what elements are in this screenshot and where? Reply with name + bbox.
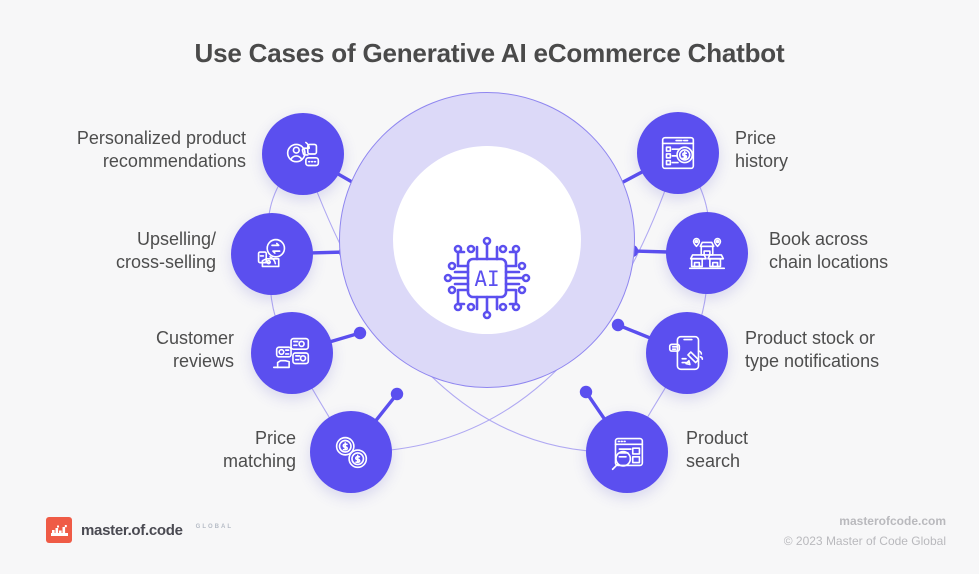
label-product-search: Product search — [686, 427, 886, 473]
node-product-search[interactable] — [586, 411, 668, 493]
node-product-stock-or-type-notifications[interactable] — [646, 312, 728, 394]
label-product-stock-or-type-notifications: Product stock or type notifications — [745, 327, 965, 373]
browser-magnifier-icon — [604, 429, 650, 475]
label-personalized-product-recommendations: Personalized product recommendations — [20, 127, 246, 173]
logo-subtext: GLOBAL — [196, 524, 233, 530]
node-price-history[interactable] — [637, 112, 719, 194]
infographic-canvas: Use Cases of Generative AI eCommerce Cha… — [0, 0, 979, 574]
logo-text: master.of.code — [81, 522, 183, 539]
website-url[interactable]: masterofcode.com — [839, 514, 946, 528]
browser-coin-icon — [655, 130, 701, 176]
brand-logo[interactable]: master.of.code GLOBAL — [46, 517, 233, 543]
upsell-person-arrows-icon — [249, 231, 295, 277]
label-price-history: Price history — [735, 127, 965, 173]
node-book-across-chain-locations[interactable] — [666, 212, 748, 294]
node-customer-reviews[interactable] — [251, 312, 333, 394]
label-book-across-chain-locations: Book across chain locations — [769, 228, 965, 274]
two-coins-icon — [328, 429, 374, 475]
label-price-matching: Price matching — [20, 427, 296, 473]
node-price-matching[interactable] — [310, 411, 392, 493]
logo-mark-icon — [46, 517, 72, 543]
page-title: Use Cases of Generative AI eCommerce Cha… — [0, 38, 979, 69]
phone-bell-notification-icon — [664, 330, 710, 376]
storefronts-pins-icon — [684, 230, 730, 276]
node-personalized-product-recommendations[interactable] — [262, 113, 344, 195]
ai-chip-icon: AI — [437, 228, 537, 328]
label-upselling-cross-selling: Upselling/ cross-selling — [20, 228, 216, 274]
copyright-text: © 2023 Master of Code Global — [784, 534, 946, 548]
review-chat-bubbles-icon — [269, 330, 315, 376]
label-customer-reviews: Customer reviews — [20, 327, 234, 373]
user-thumbs-up-chat-icon — [280, 131, 326, 177]
node-upselling-cross-selling[interactable] — [231, 213, 313, 295]
ai-chip-label: AI — [474, 267, 499, 291]
